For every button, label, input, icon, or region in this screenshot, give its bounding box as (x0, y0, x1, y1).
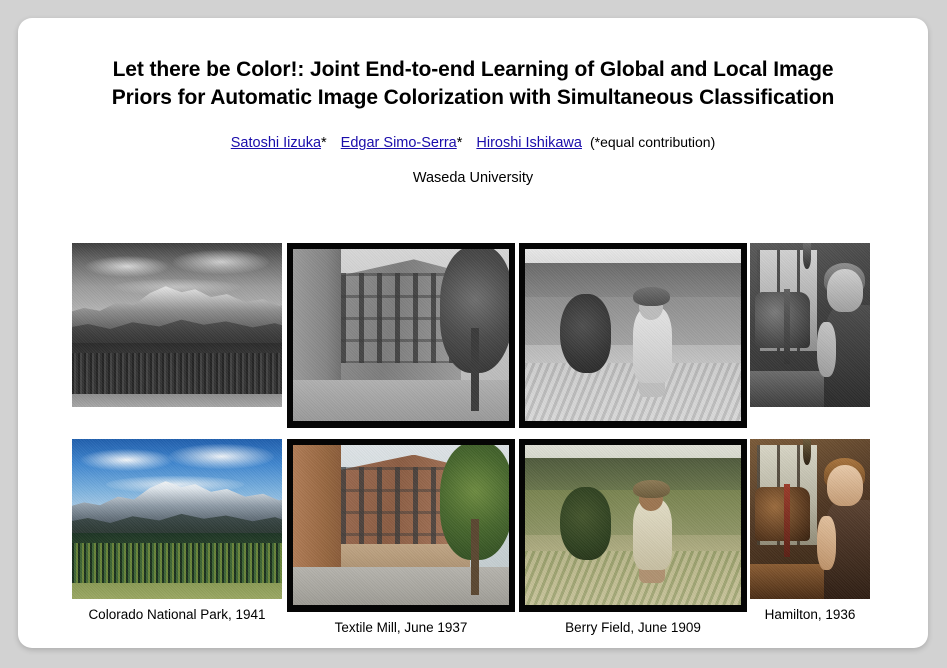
colorized-photo-hamilton (750, 439, 870, 599)
author-line: Satoshi Iizuka*Edgar Simo-Serra*Hiroshi … (18, 112, 928, 151)
gallery-column-berry-field (519, 243, 747, 428)
author-link-edgar-simo-serra[interactable]: Edgar Simo-Serra (341, 135, 457, 151)
author-link-hiroshi-ishikawa[interactable]: Hiroshi Ishikawa (476, 135, 582, 151)
gallery-column-hamilton (750, 243, 870, 407)
image-gallery: Colorado National Park, 1941 (72, 243, 872, 635)
gallery-column-hamilton-color: Hamilton, 1936 (750, 439, 870, 622)
project-page-card: Let there be Color!: Joint End-to-end Le… (18, 18, 928, 648)
affiliation: Waseda University (18, 151, 928, 186)
page-title: Let there be Color!: Joint End-to-end Le… (18, 18, 928, 112)
grayscale-photo-textile-mill (287, 243, 515, 428)
image-caption-hamilton: Hamilton, 1936 (750, 599, 870, 622)
gallery-column-berry-field-color: Berry Field, June 1909 (519, 439, 747, 635)
image-caption-textile-mill: Textile Mill, June 1937 (287, 612, 515, 635)
grayscale-photo-berry-field (519, 243, 747, 428)
colorized-photo-berry-field (519, 439, 747, 612)
author-star-0: * (321, 135, 327, 151)
colorized-photo-mountain (72, 439, 282, 599)
grayscale-photo-mountain (72, 243, 282, 407)
gallery-column-textile-mill (287, 243, 515, 428)
author-link-satoshi-iizuka[interactable]: Satoshi Iizuka (231, 135, 321, 151)
colorized-row: Colorado National Park, 1941 (72, 439, 872, 635)
image-caption-colorado: Colorado National Park, 1941 (72, 599, 282, 622)
author-star-1: * (457, 135, 463, 151)
equal-contribution-note: (*equal contribution) (590, 134, 715, 150)
gallery-column-colorado-color: Colorado National Park, 1941 (72, 439, 282, 622)
gallery-column-textile-mill-color: Textile Mill, June 1937 (287, 439, 515, 635)
image-caption-berry-field: Berry Field, June 1909 (519, 612, 747, 635)
gallery-column-colorado (72, 243, 282, 407)
grayscale-photo-hamilton (750, 243, 870, 407)
grayscale-row (72, 243, 872, 428)
colorized-photo-textile-mill (287, 439, 515, 612)
